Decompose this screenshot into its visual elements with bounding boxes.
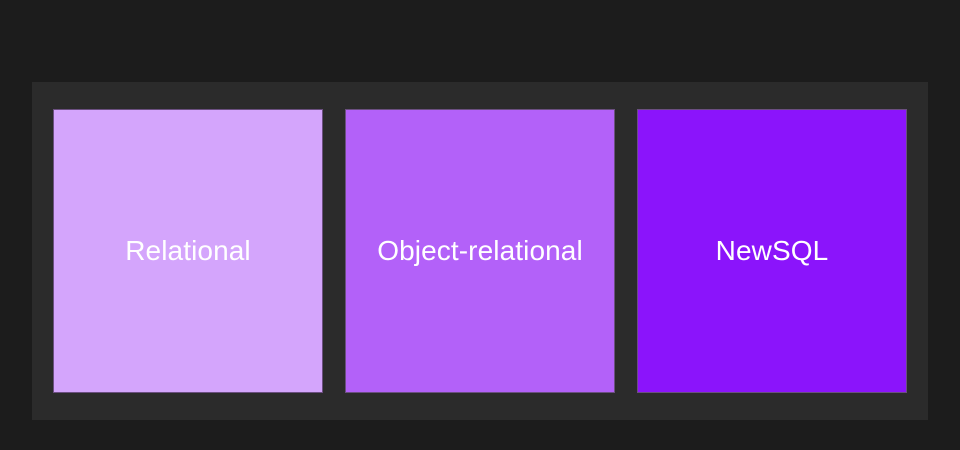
card-object-relational[interactable]: Object-relational (345, 109, 615, 393)
card-newsql[interactable]: NewSQL (637, 109, 907, 393)
cards-panel: Relational Object-relational NewSQL (32, 82, 928, 420)
card-label: NewSQL (716, 237, 829, 265)
card-relational[interactable]: Relational (53, 109, 323, 393)
card-label: Relational (125, 237, 251, 265)
page-root: Relational Object-relational NewSQL (0, 0, 960, 450)
card-label: Object-relational (377, 237, 583, 265)
